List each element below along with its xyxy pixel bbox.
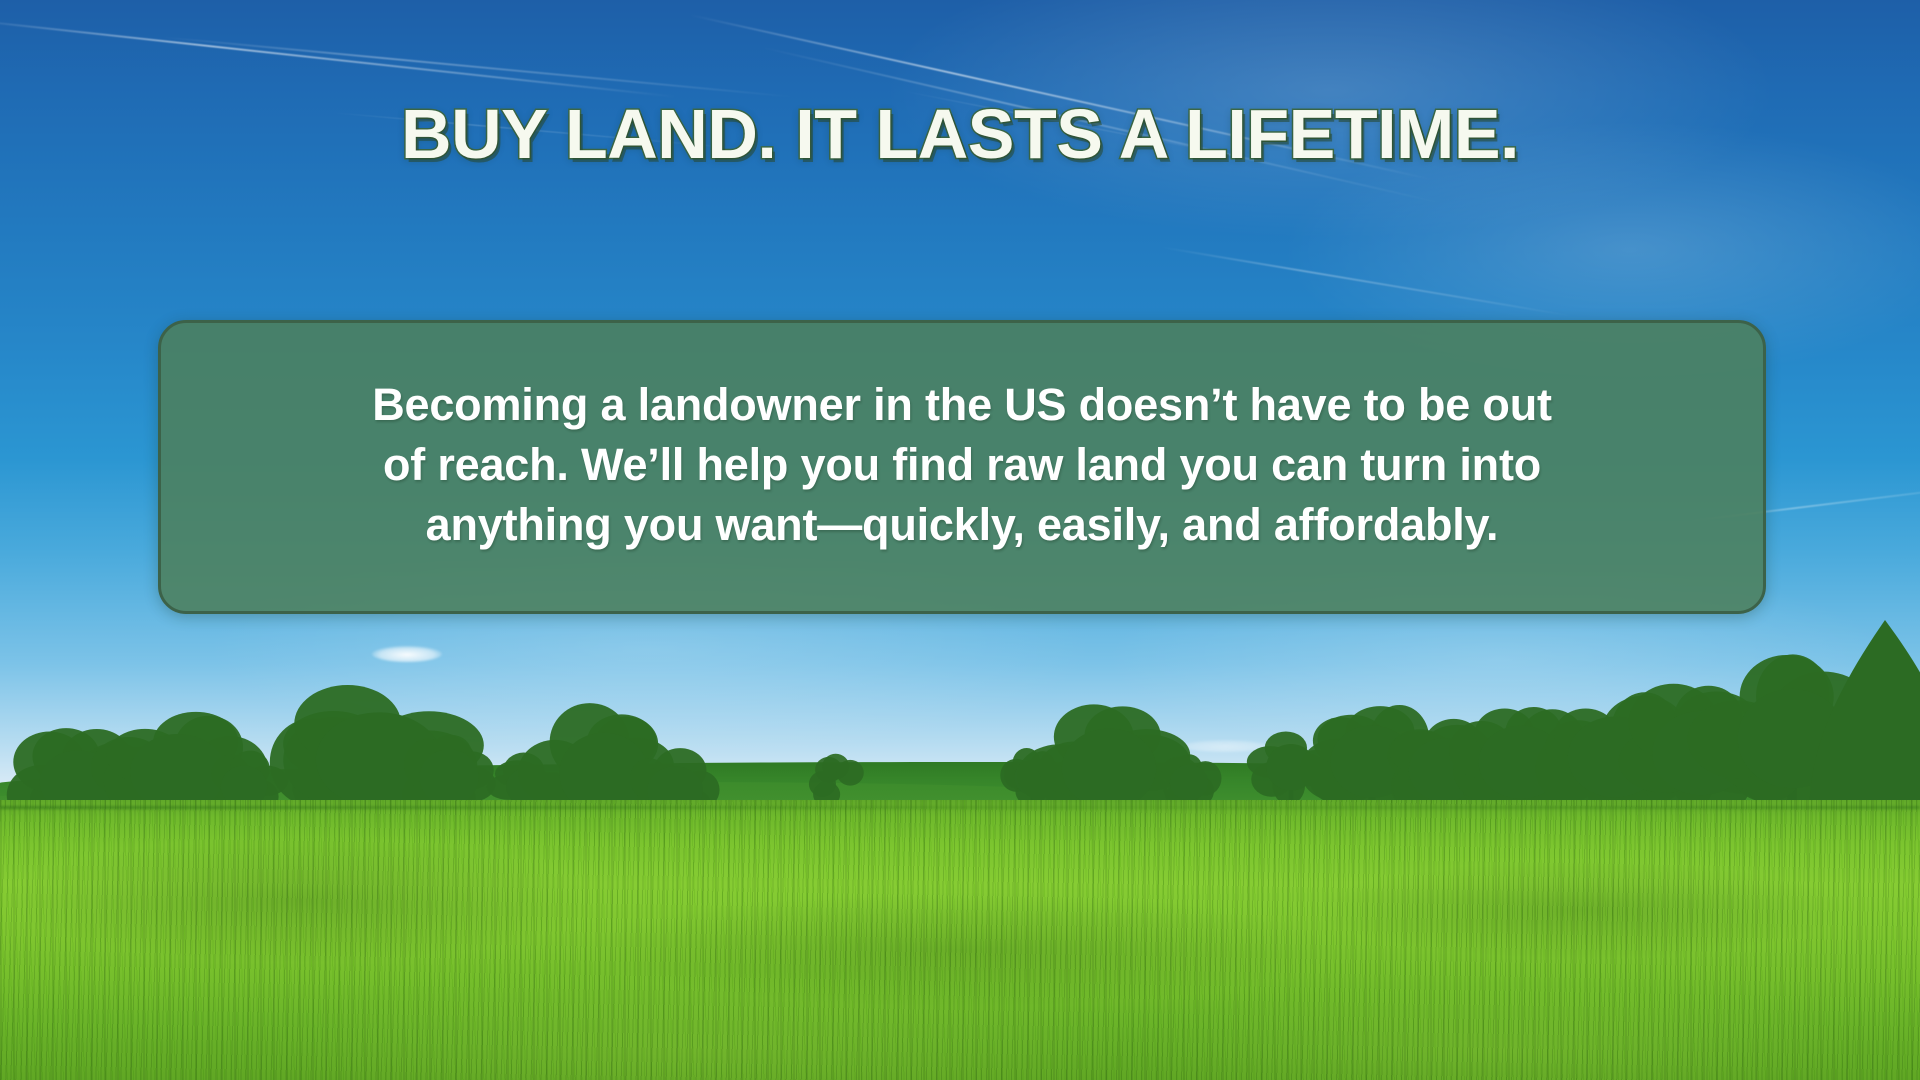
banner-stage: BUY LAND. IT LASTS A LIFETIME. Becoming … [0, 0, 1920, 1080]
page-title: BUY LAND. IT LASTS A LIFETIME. [0, 94, 1920, 174]
contrail [1160, 246, 1575, 317]
callout-paragraph: Becoming a landowner in the US doesn’t h… [372, 375, 1552, 555]
callout-line-1: Becoming a landowner in the US doesn’t h… [372, 375, 1552, 435]
contrail [160, 36, 797, 98]
contrail [0, 18, 676, 98]
grass-field [0, 800, 1920, 1080]
callout-line-3: anything you want—quickly, easily, and a… [372, 495, 1552, 555]
grass-blades [0, 800, 1920, 1080]
callout-line-2: of reach. We’ll help you find raw land y… [372, 435, 1552, 495]
callout-box: Becoming a landowner in the US doesn’t h… [158, 320, 1766, 614]
field-seam [0, 806, 1920, 809]
